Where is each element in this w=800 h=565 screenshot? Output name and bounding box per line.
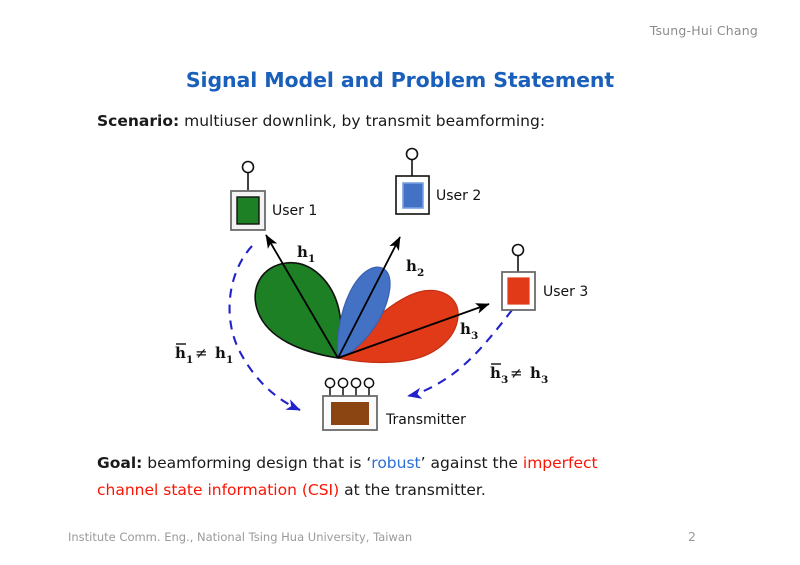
goal-part3: at the transmitter.: [339, 481, 486, 499]
csi-error-label-right: h 3 ≠ h 3: [490, 364, 548, 386]
transmitter-label: Transmitter: [385, 412, 466, 428]
user-device-2-label: User 2: [436, 188, 481, 204]
channel-vector-h2-label: h 2: [406, 257, 424, 279]
csi-error-right-actual: h: [530, 364, 541, 382]
csi-error-left-estimate: h: [175, 344, 186, 362]
transmitter-icon: [323, 378, 377, 430]
user-device-icon-1: [231, 162, 265, 231]
goal-part2: ’ against the: [421, 454, 523, 472]
h3-subscript: 3: [471, 330, 478, 342]
goal-part1: beamforming design that is ‘: [147, 454, 371, 472]
channel-vector-h3-label: h 3: [460, 320, 478, 342]
h2-symbol: h: [406, 257, 417, 275]
user-device-2: User 2: [396, 149, 481, 215]
user-device-1-label: User 1: [272, 203, 317, 219]
csi-error-right-estimate: h: [490, 364, 501, 382]
user-device-icon-2: [396, 149, 429, 215]
transmitter: Transmitter: [323, 378, 466, 430]
footer-institute: Institute Comm. Eng., National Tsing Hua…: [68, 530, 412, 544]
user-device-3: User 3: [502, 245, 588, 311]
h2-subscript: 2: [417, 267, 424, 279]
goal-robust: robust: [371, 454, 420, 472]
h3-symbol: h: [460, 320, 471, 338]
csi-error-label-left: h 1 ≠ h 1: [175, 344, 233, 366]
user-device-1: User 1: [231, 162, 317, 231]
goal-lead: Goal:: [97, 454, 142, 472]
footer-page-number: 2: [688, 529, 696, 544]
csi-error-right-relation: ≠: [510, 364, 523, 382]
channel-vector-h1-label: h 1: [297, 243, 315, 265]
h1-subscript: 1: [308, 253, 315, 265]
csi-error-left-actual-sub: 1: [226, 354, 233, 366]
h1-symbol: h: [297, 243, 308, 261]
user-device-icon-3: [502, 245, 535, 311]
goal-csi: channel state information (CSI): [97, 481, 339, 499]
slide: Tsung-Hui Chang Signal Model and Problem…: [0, 0, 800, 565]
goal-block: Goal: beamforming design that is ‘robust…: [97, 450, 737, 504]
beam-lobe-user1: [255, 263, 341, 358]
goal-imperfect: imperfect: [523, 454, 598, 472]
csi-error-left-relation: ≠: [195, 344, 208, 362]
csi-error-right-estimate-sub: 3: [501, 374, 508, 386]
user-device-3-label: User 3: [543, 284, 588, 300]
csi-error-right-actual-sub: 3: [541, 374, 548, 386]
csi-error-left-actual: h: [215, 344, 226, 362]
csi-error-left-estimate-sub: 1: [186, 354, 193, 366]
